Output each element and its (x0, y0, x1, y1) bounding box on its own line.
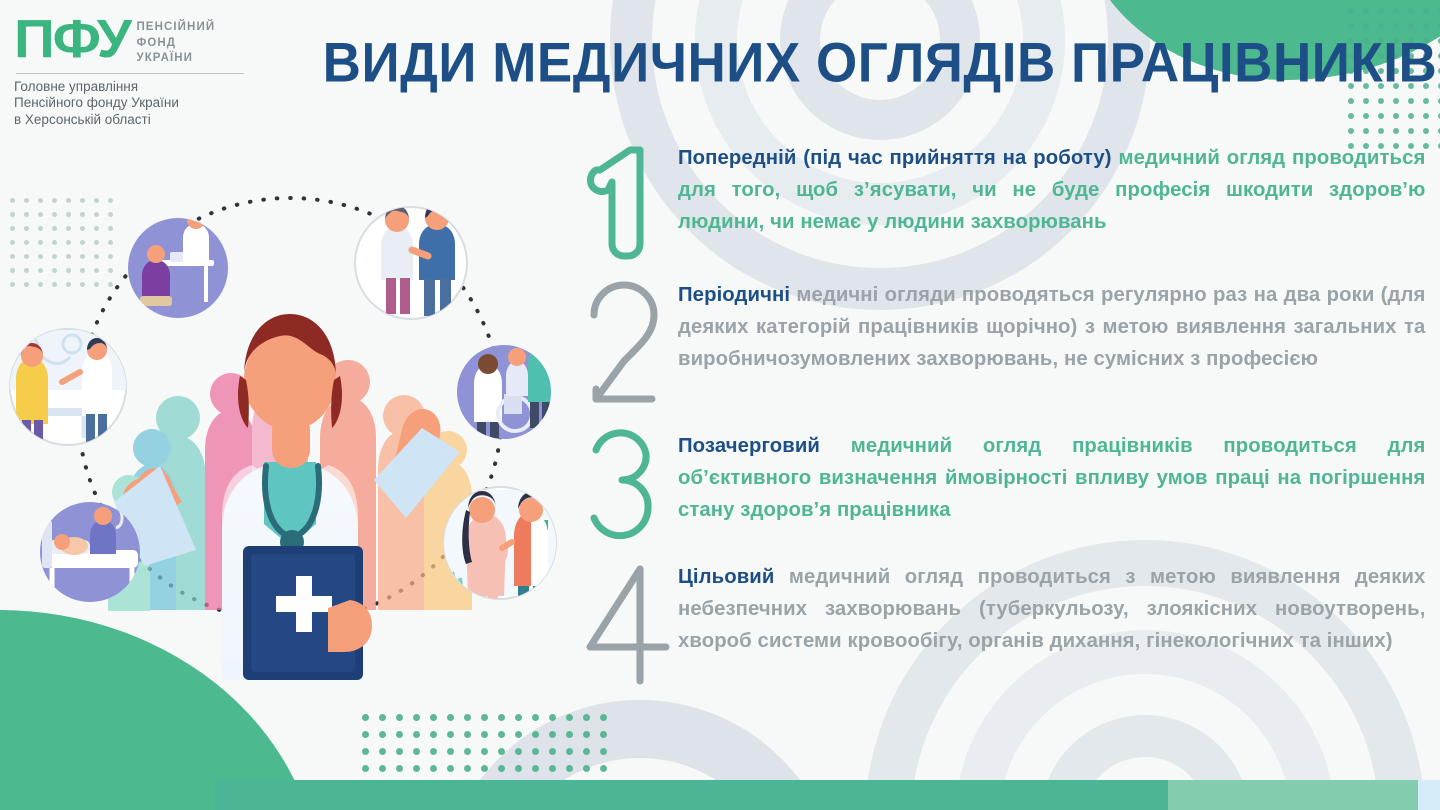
item-number-2 (578, 273, 678, 411)
list-item: Періодичні медичні огляди проводяться ре… (578, 273, 1433, 411)
item-number-1 (578, 138, 678, 260)
bottom-bar-segment-1 (0, 780, 215, 810)
list-item: Попередній (під час прийняття на роботу)… (578, 138, 1433, 260)
pfu-logo-subtitle: ПЕНСІЙНИЙ ФОНД УКРАЇНИ (136, 14, 215, 67)
item-lead-2: Періодичні (678, 283, 790, 306)
medical-exam-types-list: Попередній (під час прийняття на роботу)… (578, 138, 1433, 708)
list-item: Цільовий медичний огляд проводиться з ме… (578, 555, 1433, 695)
item-text-4: Цільовий медичний огляд проводиться з ме… (678, 555, 1433, 657)
bubble-doctor-consultation (128, 211, 228, 318)
organization-name: Головне управління Пенсійного фонду Укра… (14, 79, 274, 129)
item-text-1: Попередній (під час прийняття на роботу)… (678, 138, 1433, 238)
item-lead-4: Цільовий (678, 565, 774, 588)
item-number-4 (578, 555, 678, 695)
item-text-2: Періодичні медичні огляди проводяться ре… (678, 273, 1433, 375)
pfu-logo-block: ПФУ ПЕНСІЙНИЙ ФОНД УКРАЇНИ Головне управ… (14, 14, 274, 128)
page-title: ВИДИ МЕДИЧНИХ ОГЛЯДІВ ПРАЦІВНИКІВ (297, 30, 1440, 95)
logo-line-1: ПЕНСІЙНИЙ (136, 20, 215, 36)
bottom-color-bar (0, 780, 1440, 810)
item-rest-4: медичний огляд проводиться з метою виявл… (678, 565, 1425, 652)
list-item: Позачерговий медичний огляд працівників … (578, 424, 1433, 542)
medical-illustration (0, 180, 580, 680)
logo-line-3: УКРАЇНИ (136, 51, 215, 67)
watermark-ring-bottom-center (430, 690, 850, 810)
bubble-wheelchair-patient (457, 336, 554, 444)
logo-divider (16, 73, 244, 74)
bubble-clinic-scene (10, 329, 126, 446)
bottom-bar-segment-3 (1168, 780, 1418, 810)
item-number-3 (578, 424, 678, 542)
org-line-1: Головне управління (14, 79, 274, 96)
bubble-hospital-bed (40, 502, 140, 602)
dot-grid-bottom (362, 714, 617, 810)
item-text-3: Позачерговий медичний огляд працівників … (678, 424, 1433, 526)
item-lead-3: Позачерговий (678, 434, 820, 457)
org-line-2: Пенсійного фонду України (14, 95, 274, 112)
pfu-logo-mark: ПФУ (14, 14, 130, 64)
bubble-patient-handshake (355, 203, 467, 319)
bottom-bar-segment-2 (215, 780, 1168, 810)
infographic-canvas: ПФУ ПЕНСІЙНИЙ ФОНД УКРАЇНИ Головне управ… (0, 0, 1440, 810)
item-rest-2: медичні огляди проводяться регулярно раз… (678, 283, 1425, 370)
bottom-bar-segment-4 (1418, 780, 1440, 810)
org-line-3: в Херсонській області (14, 112, 274, 129)
item-lead-1: Попередній (під час прийняття на роботу) (678, 146, 1112, 169)
logo-line-2: ФОНД (136, 36, 215, 52)
